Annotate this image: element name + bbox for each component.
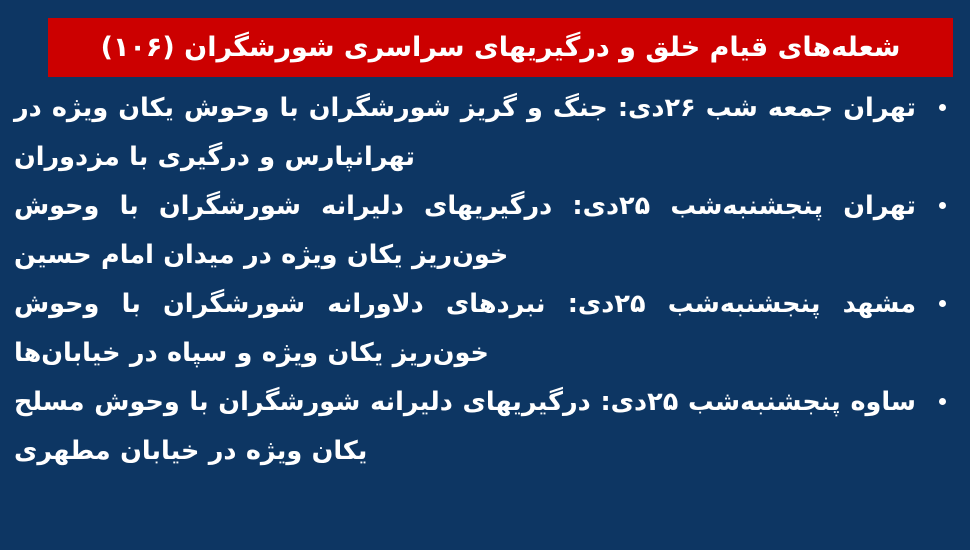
page-title: شعله‌های قیام خلق و درگیریهای سراسری شور… — [101, 32, 901, 63]
news-bullet-list: تهران جمعه شب ۲۶دی: جنگ و گریز شورشگران … — [14, 84, 960, 476]
bullet-dot-icon — [939, 300, 946, 307]
bullet-dot-icon — [939, 104, 946, 111]
list-item-text: ساوه پنجشنبه‌شب ۲۵دی: درگیریهای دلیرانه … — [14, 387, 916, 466]
list-item-text: تهران پنجشنبه‌شب ۲۵دی: درگیریهای دلیرانه… — [14, 191, 916, 270]
slide-canvas: شعله‌های قیام خلق و درگیریهای سراسری شور… — [0, 0, 970, 550]
title-banner: شعله‌های قیام خلق و درگیریهای سراسری شور… — [48, 18, 953, 77]
list-item-text: تهران جمعه شب ۲۶دی: جنگ و گریز شورشگران … — [14, 93, 916, 172]
bullet-dot-icon — [939, 398, 946, 405]
list-item: تهران پنجشنبه‌شب ۲۵دی: درگیریهای دلیرانه… — [14, 182, 960, 280]
list-item: تهران جمعه شب ۲۶دی: جنگ و گریز شورشگران … — [14, 84, 960, 182]
list-item-text: مشهد پنجشنبه‌شب ۲۵دی: نبردهای دلاورانه ش… — [14, 289, 916, 368]
bullet-dot-icon — [939, 202, 946, 209]
list-item: ساوه پنجشنبه‌شب ۲۵دی: درگیریهای دلیرانه … — [14, 378, 960, 476]
list-item: مشهد پنجشنبه‌شب ۲۵دی: نبردهای دلاورانه ش… — [14, 280, 960, 378]
